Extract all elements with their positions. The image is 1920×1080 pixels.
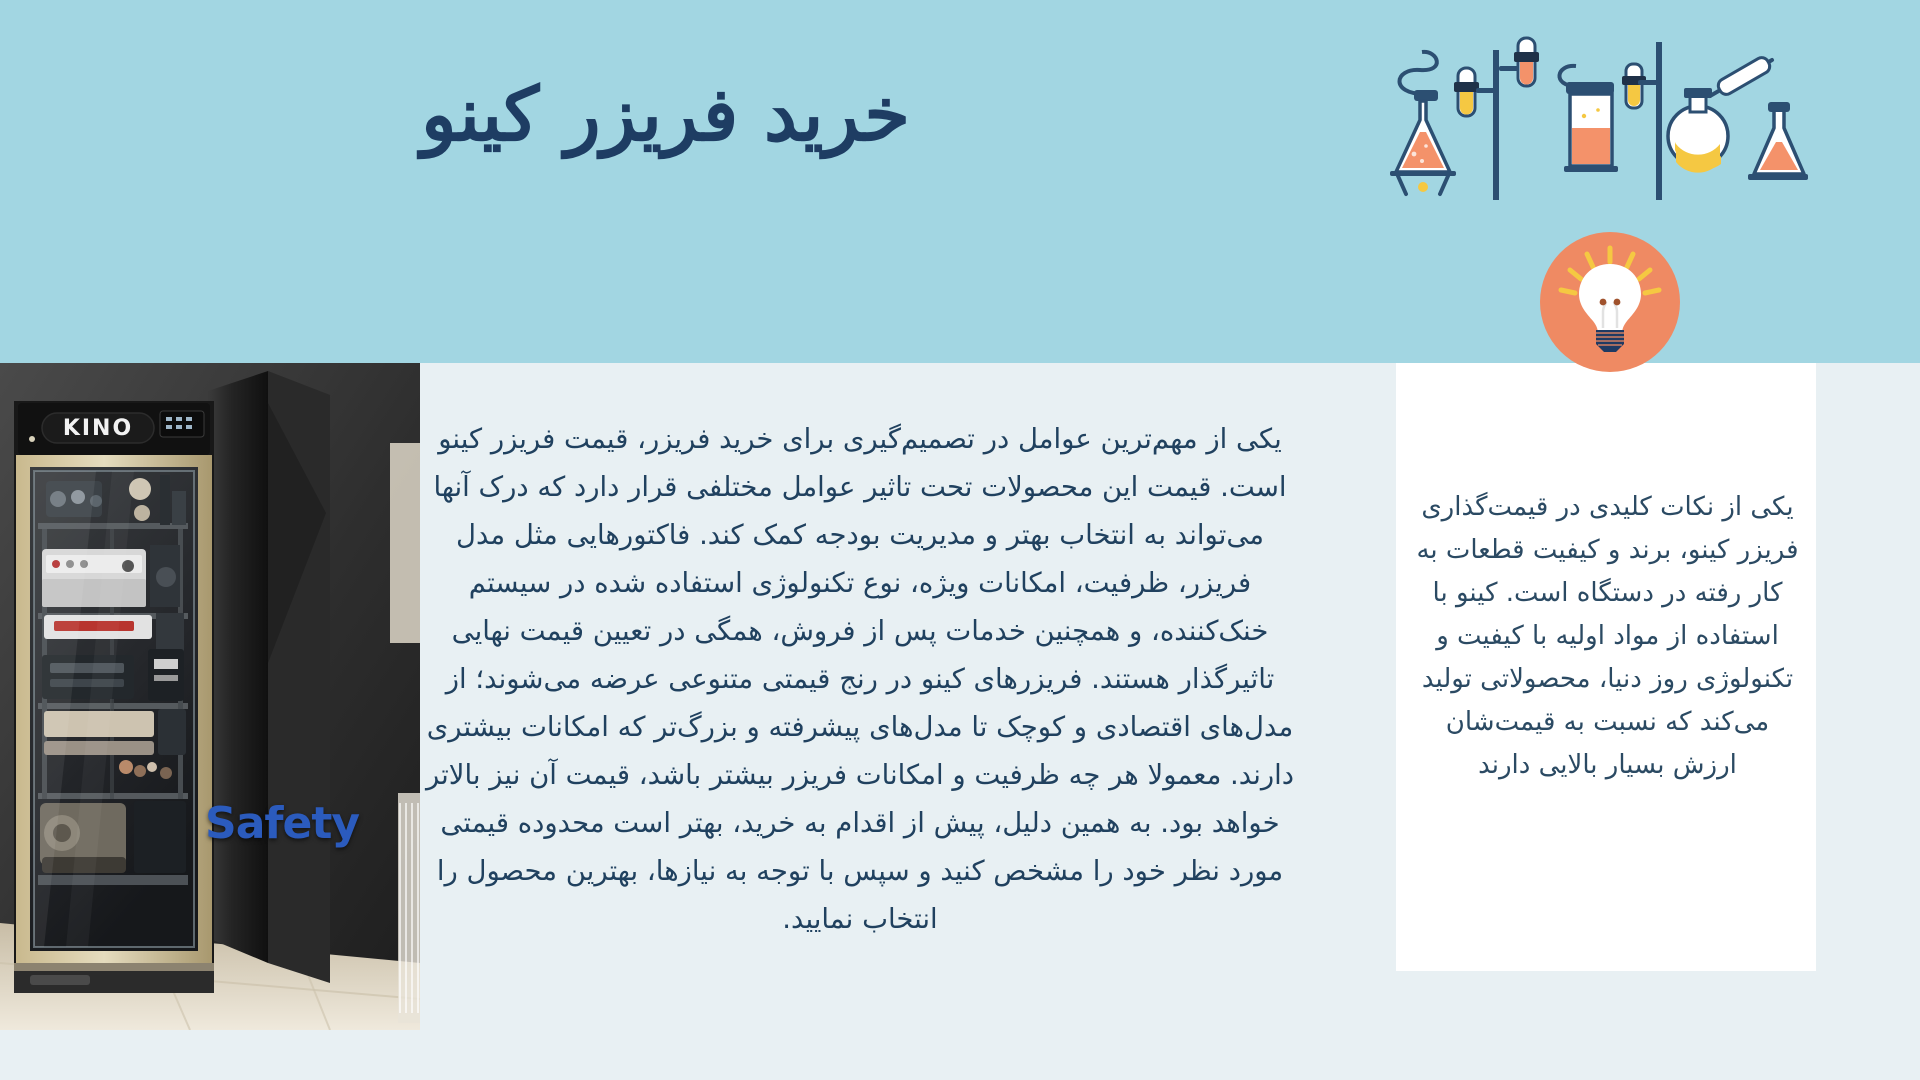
lightbulb-icon (1540, 232, 1680, 372)
slide-canvas: خرید فریزر کینو (0, 0, 1920, 1080)
svg-text:KINO: KINO (63, 416, 133, 441)
sidebar-paragraph: یکی از نکات کلیدی در قیمت‌گذاری فریزر کی… (1415, 486, 1800, 787)
freezer-photograph: KINO (0, 363, 420, 1030)
lab-equipment-illustration (1380, 24, 1820, 204)
page-title: خرید فریزر کینو (180, 72, 910, 159)
photo-overlay-word-safety: Safety (205, 798, 359, 849)
main-body-paragraph: یکی از مهم‌ترین عوامل در تصمیم‌گیری برای… (420, 415, 1300, 943)
photo-artwork: KINO (0, 363, 420, 1030)
